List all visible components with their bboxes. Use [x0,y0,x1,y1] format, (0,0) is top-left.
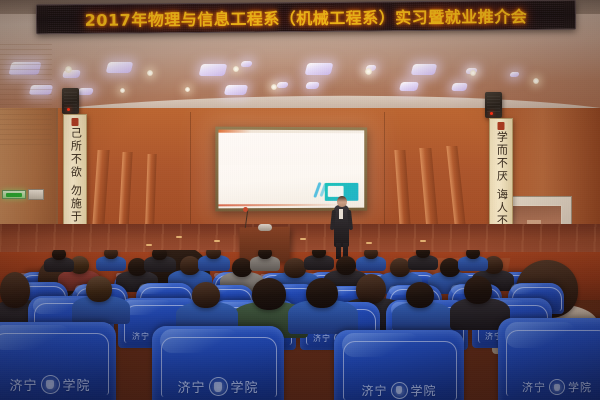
ceiling-downlight [271,84,277,90]
chair-sheen [0,325,71,350]
audience-head [0,272,30,308]
audience-head [406,282,434,308]
chair-logo-text-left: 济宁 [177,377,205,396]
audience-head [306,278,338,308]
speaker-led-icon [490,112,493,115]
auditorium-chair[interactable]: 济宁学院 [334,330,464,400]
exit-sign-glyph [6,193,22,197]
chair-sheen [139,284,174,293]
chair-logo-text-left: 济宁 [361,382,387,399]
audience-head [364,250,378,259]
chair-logo-text-right: 学院 [63,375,91,394]
auditorium-photo: 己所不欲 勿施于人 学而不厌 诲人不倦 [0,0,600,400]
audience-head [356,274,386,304]
chair-branding: 济宁学院 [334,382,464,399]
chair-logo-text-right: 学院 [568,379,592,395]
audience-head [152,250,167,260]
audience-head [180,256,200,275]
wall-speaker-left [62,88,79,114]
chair-logo-text-right: 学院 [411,382,437,399]
ceiling-downlight [533,78,539,84]
chair-sheen [511,284,545,293]
window-blind [0,44,52,149]
lectern-object [258,224,272,231]
stage-glint [300,238,306,240]
emergency-exit-sign [2,190,26,199]
auditorium-chair[interactable]: 济宁学院 [0,322,116,400]
ceiling-panel-light [77,88,94,95]
ceiling-panel-light [106,62,134,73]
wall-speaker-right [485,92,502,118]
ceiling-panel-light [224,85,248,95]
university-emblem-icon [209,377,228,396]
audience-head [258,250,272,259]
ceiling-downlight [185,87,190,92]
seal-icon [498,122,505,130]
chair-branding: 济宁学院 [152,377,284,396]
ceiling-panel-light [411,64,438,75]
chair-branding: 济宁学院 [0,375,116,394]
presenter-shirt [339,209,343,219]
led-banner: 2017年物理与信息工程系（机械工程系）实习暨就业推介会 [36,0,576,34]
stage-glint [366,242,372,244]
microphone-icon [243,207,248,212]
slide-bottom-bar [218,204,344,207]
ceiling-downlight [65,66,72,73]
seal-icon [72,118,79,126]
university-emblem-icon [391,382,408,399]
stage-glint [146,244,152,246]
ceiling-panel-light [199,64,228,76]
chair-sheen [505,322,576,348]
ceiling-downlight [365,68,372,75]
ceiling-panel-light [305,82,320,89]
audience-head [252,278,286,310]
wall-control-box[interactable] [28,189,44,200]
audience-head [440,258,460,277]
audience-head [104,250,118,259]
ceiling-panel-light [451,83,468,91]
audience-head [52,250,66,260]
audience-head [390,258,410,277]
led-banner-text: 2017年物理与信息工程系（机械工程系）实习暨就业推介会 [85,3,528,31]
university-emblem-icon [549,379,565,395]
audience-head [284,258,306,278]
audience-head [86,276,112,302]
ceiling-downlight [120,88,125,93]
scroll-left-text: 己所不欲 勿施于人 [68,127,83,237]
stage-glint [420,240,426,242]
speaker-led-icon [67,108,70,111]
audience-head [192,282,220,308]
audience-area: 济宁学院济宁学院济宁学院济宁学院济宁学院济宁学院 济宁学院济宁学院济宁学院济宁学… [0,250,600,400]
audience-head [232,258,252,277]
chair-logo-text-right: 学院 [231,377,259,396]
chair-sheen [342,333,420,356]
slide-top-bar [218,130,364,134]
stage-glint [176,236,182,238]
ceiling-downlight [470,70,476,76]
ceiling-panel-light [399,82,419,91]
stage-glint [214,240,220,242]
calligraphy-scroll-left: 己所不欲 勿施于人 [63,114,87,242]
chair-logo-text-left: 济宁 [132,331,150,342]
audience-head [336,256,356,275]
presenter-head [337,196,347,207]
auditorium-chair[interactable]: 济宁学院 [498,318,600,400]
chair-sheen [160,329,239,353]
audience-head [464,276,492,304]
ceiling-downlight [233,66,239,72]
ceiling-panel-light [305,63,334,75]
chair-logo-text-left: 济宁 [9,375,37,394]
chair-logo-text-left: 济宁 [522,379,546,395]
chair-sheen [123,300,172,315]
chair-branding: 济宁学院 [498,379,600,395]
auditorium-chair[interactable]: 济宁学院 [152,326,284,400]
ceiling-downlight [147,70,153,76]
chair-logo-text-left: 济宁 [313,333,331,344]
audience-head [466,250,480,259]
university-emblem-icon [41,375,60,394]
